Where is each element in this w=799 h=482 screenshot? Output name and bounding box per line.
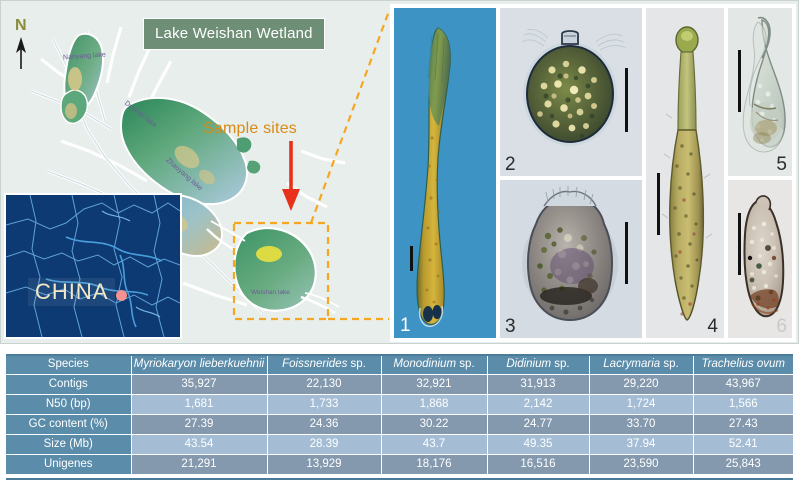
cell-gc-5: 27.43	[693, 414, 793, 434]
cell-n50-1: 1,733	[267, 394, 381, 414]
cell-contigs-4: 29,220	[589, 374, 693, 394]
panel-5-number: 5	[776, 155, 787, 174]
column-header-2: Monodinium sp.	[381, 354, 487, 374]
panel-3-number: 3	[505, 317, 516, 336]
panel-6-scale-bar	[738, 213, 741, 275]
cell-size-5: 52.41	[693, 434, 793, 454]
cell-contigs-3: 31,913	[487, 374, 589, 394]
panel-3-scale-bar	[625, 222, 628, 284]
column-header-1: Foissnerides sp.	[267, 354, 381, 374]
column-header-4: Lacrymaria sp.	[589, 354, 693, 374]
cell-gc-4: 33.70	[589, 414, 693, 434]
column-header-species: Species	[6, 354, 131, 374]
table-row: Contigs 35,927 22,130 32,921 31,913 29,2…	[6, 374, 793, 394]
cell-gc-3: 24.77	[487, 414, 589, 434]
cell-size-1: 28.39	[267, 434, 381, 454]
china-inset-svg	[6, 195, 180, 337]
row-label-gc-content: GC content (%)	[6, 414, 131, 434]
cell-n50-5: 1,566	[693, 394, 793, 414]
cell-unigenes-3: 16,516	[487, 454, 589, 474]
species-name-4: Lacrymaria	[603, 358, 660, 370]
panel-4-number: 4	[707, 317, 718, 336]
north-letter: N	[15, 17, 27, 35]
column-header-0: Myriokaryon lieberkuehnii	[131, 354, 267, 374]
table-row: N50 (bp) 1,681 1,733 1,868 2,142 1,724 1…	[6, 394, 793, 414]
cell-n50-2: 1,868	[381, 394, 487, 414]
panel-1-scale-bar	[410, 246, 413, 271]
cell-n50-0: 1,681	[131, 394, 267, 414]
cell-size-4: 37.94	[589, 434, 693, 454]
micrograph-panel-5[interactable]: 5	[728, 8, 792, 176]
cell-unigenes-4: 23,590	[589, 454, 693, 474]
sampling-area-highlight	[256, 246, 282, 262]
cell-gc-1: 24.36	[267, 414, 381, 434]
species-suffix-4: sp.	[660, 358, 679, 370]
figure-root: N Lake Weishan Wetland Sample sites Nany…	[0, 0, 799, 482]
row-label-unigenes: Unigenes	[6, 454, 131, 474]
row-label-contigs: Contigs	[6, 374, 131, 394]
table-row: Size (Mb) 43.54 28.39 43.7 49.35 37.94 5…	[6, 434, 793, 454]
panel-2-image	[500, 8, 642, 176]
table-bottom-rule	[6, 478, 793, 480]
table-row: Unigenes 21,291 13,929 18,176 16,516 23,…	[6, 454, 793, 474]
cell-contigs-5: 43,967	[693, 374, 793, 394]
column-header-5: Trachelius ovum	[693, 354, 793, 374]
micrograph-panel-3[interactable]: 3	[500, 180, 642, 338]
top-panel: N Lake Weishan Wetland Sample sites Nany…	[0, 0, 799, 344]
cell-unigenes-1: 13,929	[267, 454, 381, 474]
species-suffix-3: sp.	[551, 358, 570, 370]
table-top-rule	[6, 354, 793, 356]
micrograph-plate: 1	[390, 4, 796, 342]
dashed-connector-lines	[311, 11, 389, 319]
cell-unigenes-5: 25,843	[693, 454, 793, 474]
species-suffix-2: sp.	[456, 358, 475, 370]
table-body: Contigs 35,927 22,130 32,921 31,913 29,2…	[6, 374, 793, 474]
panel-2-number: 2	[505, 155, 516, 174]
cell-contigs-1: 22,130	[267, 374, 381, 394]
micrograph-panel-1[interactable]: 1	[394, 8, 496, 338]
cell-size-0: 43.54	[131, 434, 267, 454]
cell-gc-0: 27.39	[131, 414, 267, 434]
panel-4-scale-bar	[657, 173, 660, 235]
cell-unigenes-2: 18,176	[381, 454, 487, 474]
species-name-3: Didinium	[506, 358, 551, 370]
column-header-3: Didinium sp.	[487, 354, 589, 374]
cell-size-2: 43.7	[381, 434, 487, 454]
sample-sites-label: Sample sites	[203, 120, 297, 138]
cell-contigs-2: 32,921	[381, 374, 487, 394]
species-suffix-1: sp.	[347, 358, 366, 370]
assembly-statistics-table-wrapper: Species Myriokaryon lieberkuehnii Foissn…	[0, 350, 799, 482]
micrograph-panel-2[interactable]: 2	[500, 8, 642, 176]
cell-n50-3: 2,142	[487, 394, 589, 414]
sample-location-dot-icon	[116, 290, 127, 301]
row-label-size: Size (Mb)	[6, 434, 131, 454]
panel-6-number: 6	[776, 317, 787, 336]
species-name-5: Trachelius ovum	[701, 358, 785, 370]
micrograph-panel-4[interactable]: 4	[646, 8, 724, 338]
panel-3-image	[500, 180, 642, 338]
table-header: Species Myriokaryon lieberkuehnii Foissn…	[6, 354, 793, 374]
assembly-statistics-table: Species Myriokaryon lieberkuehnii Foissn…	[6, 354, 793, 474]
cell-contigs-0: 35,927	[131, 374, 267, 394]
sample-sites-arrow-icon	[282, 141, 300, 211]
cell-unigenes-0: 21,291	[131, 454, 267, 474]
map-title-banner: Lake Weishan Wetland	[143, 18, 325, 50]
panel-5-scale-bar	[738, 50, 741, 112]
micrograph-panel-6[interactable]: 6	[728, 180, 792, 338]
cell-gc-2: 30.22	[381, 414, 487, 434]
species-name-0: Myriokaryon lieberkuehnii	[134, 358, 264, 370]
china-inset-map: CHINA	[4, 193, 182, 339]
panel-2-scale-bar	[625, 68, 628, 132]
china-label: CHINA	[28, 278, 115, 306]
panel-1-number: 1	[400, 316, 411, 335]
panel-1-image	[394, 8, 496, 338]
species-name-1: Foissnerides	[282, 358, 347, 370]
north-arrow-icon	[16, 37, 26, 69]
row-label-n50: N50 (bp)	[6, 394, 131, 414]
table-row: GC content (%) 27.39 24.36 30.22 24.77 3…	[6, 414, 793, 434]
table-header-row: Species Myriokaryon lieberkuehnii Foissn…	[6, 354, 793, 374]
cell-size-3: 49.35	[487, 434, 589, 454]
cell-n50-4: 1,724	[589, 394, 693, 414]
map-area: N Lake Weishan Wetland Sample sites Nany…	[1, 1, 391, 344]
species-name-2: Monodinium	[393, 358, 456, 370]
